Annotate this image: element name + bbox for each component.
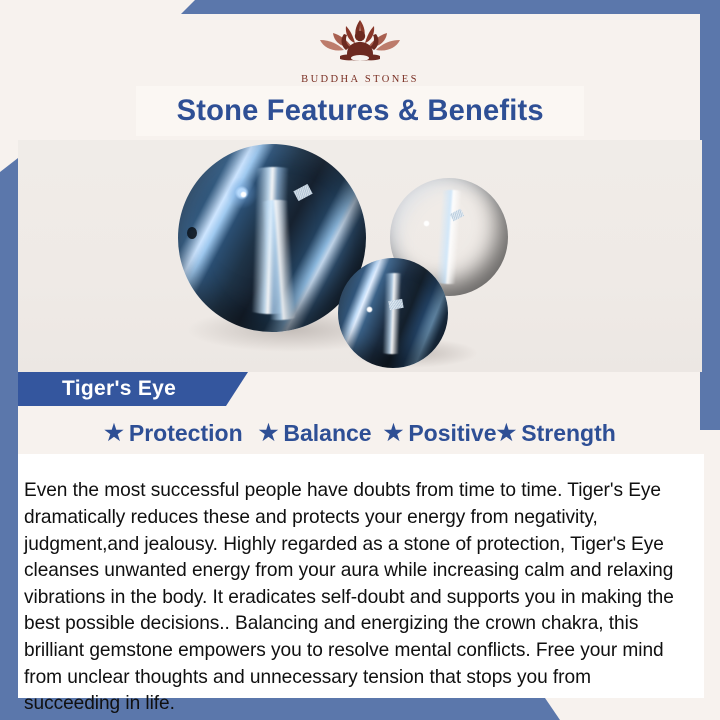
benefit-item-balance: ★ Balance <box>259 420 372 447</box>
description-panel: Even the most successful people have dou… <box>18 454 704 698</box>
top-accent-bar <box>0 0 720 14</box>
left-accent-bar <box>0 158 18 718</box>
star-icon: ★ <box>259 422 279 444</box>
brand-logo: BUDDHA STONES <box>0 14 720 88</box>
specular-highlight <box>366 306 373 313</box>
stone-name: Tiger's Eye <box>62 377 176 401</box>
lotus-meditation-icon <box>300 14 420 73</box>
brand-name: BUDDHA STONES <box>301 74 419 85</box>
product-photo <box>18 140 702 372</box>
stone-sphere-small <box>338 258 448 368</box>
benefit-label: Protection <box>129 420 243 447</box>
benefit-label: Strength <box>521 420 616 447</box>
benefits-list: ★ Protection ★ Balance ★ Positive ★ Stre… <box>18 412 702 454</box>
stone-info-card: BUDDHA STONES Stone Features & Benefits … <box>0 0 720 720</box>
chatoyant-streak <box>343 269 443 360</box>
page-title: Stone Features & Benefits <box>176 94 543 128</box>
benefit-item-protection: ★ Protection <box>104 420 242 447</box>
specular-highlight <box>240 191 247 198</box>
star-icon: ★ <box>384 422 404 444</box>
benefit-label: Balance <box>283 420 371 447</box>
benefit-item-strength: ★ Strength <box>497 420 616 447</box>
benefit-label: Positive <box>408 420 496 447</box>
benefit-item-positive: ★ Positive <box>384 420 497 447</box>
page-title-band: Stone Features & Benefits <box>136 86 584 136</box>
stone-name-banner: Tiger's Eye <box>18 372 248 406</box>
star-icon: ★ <box>104 422 124 444</box>
star-icon: ★ <box>497 422 517 444</box>
description-text: Even the most successful people have dou… <box>24 477 688 716</box>
